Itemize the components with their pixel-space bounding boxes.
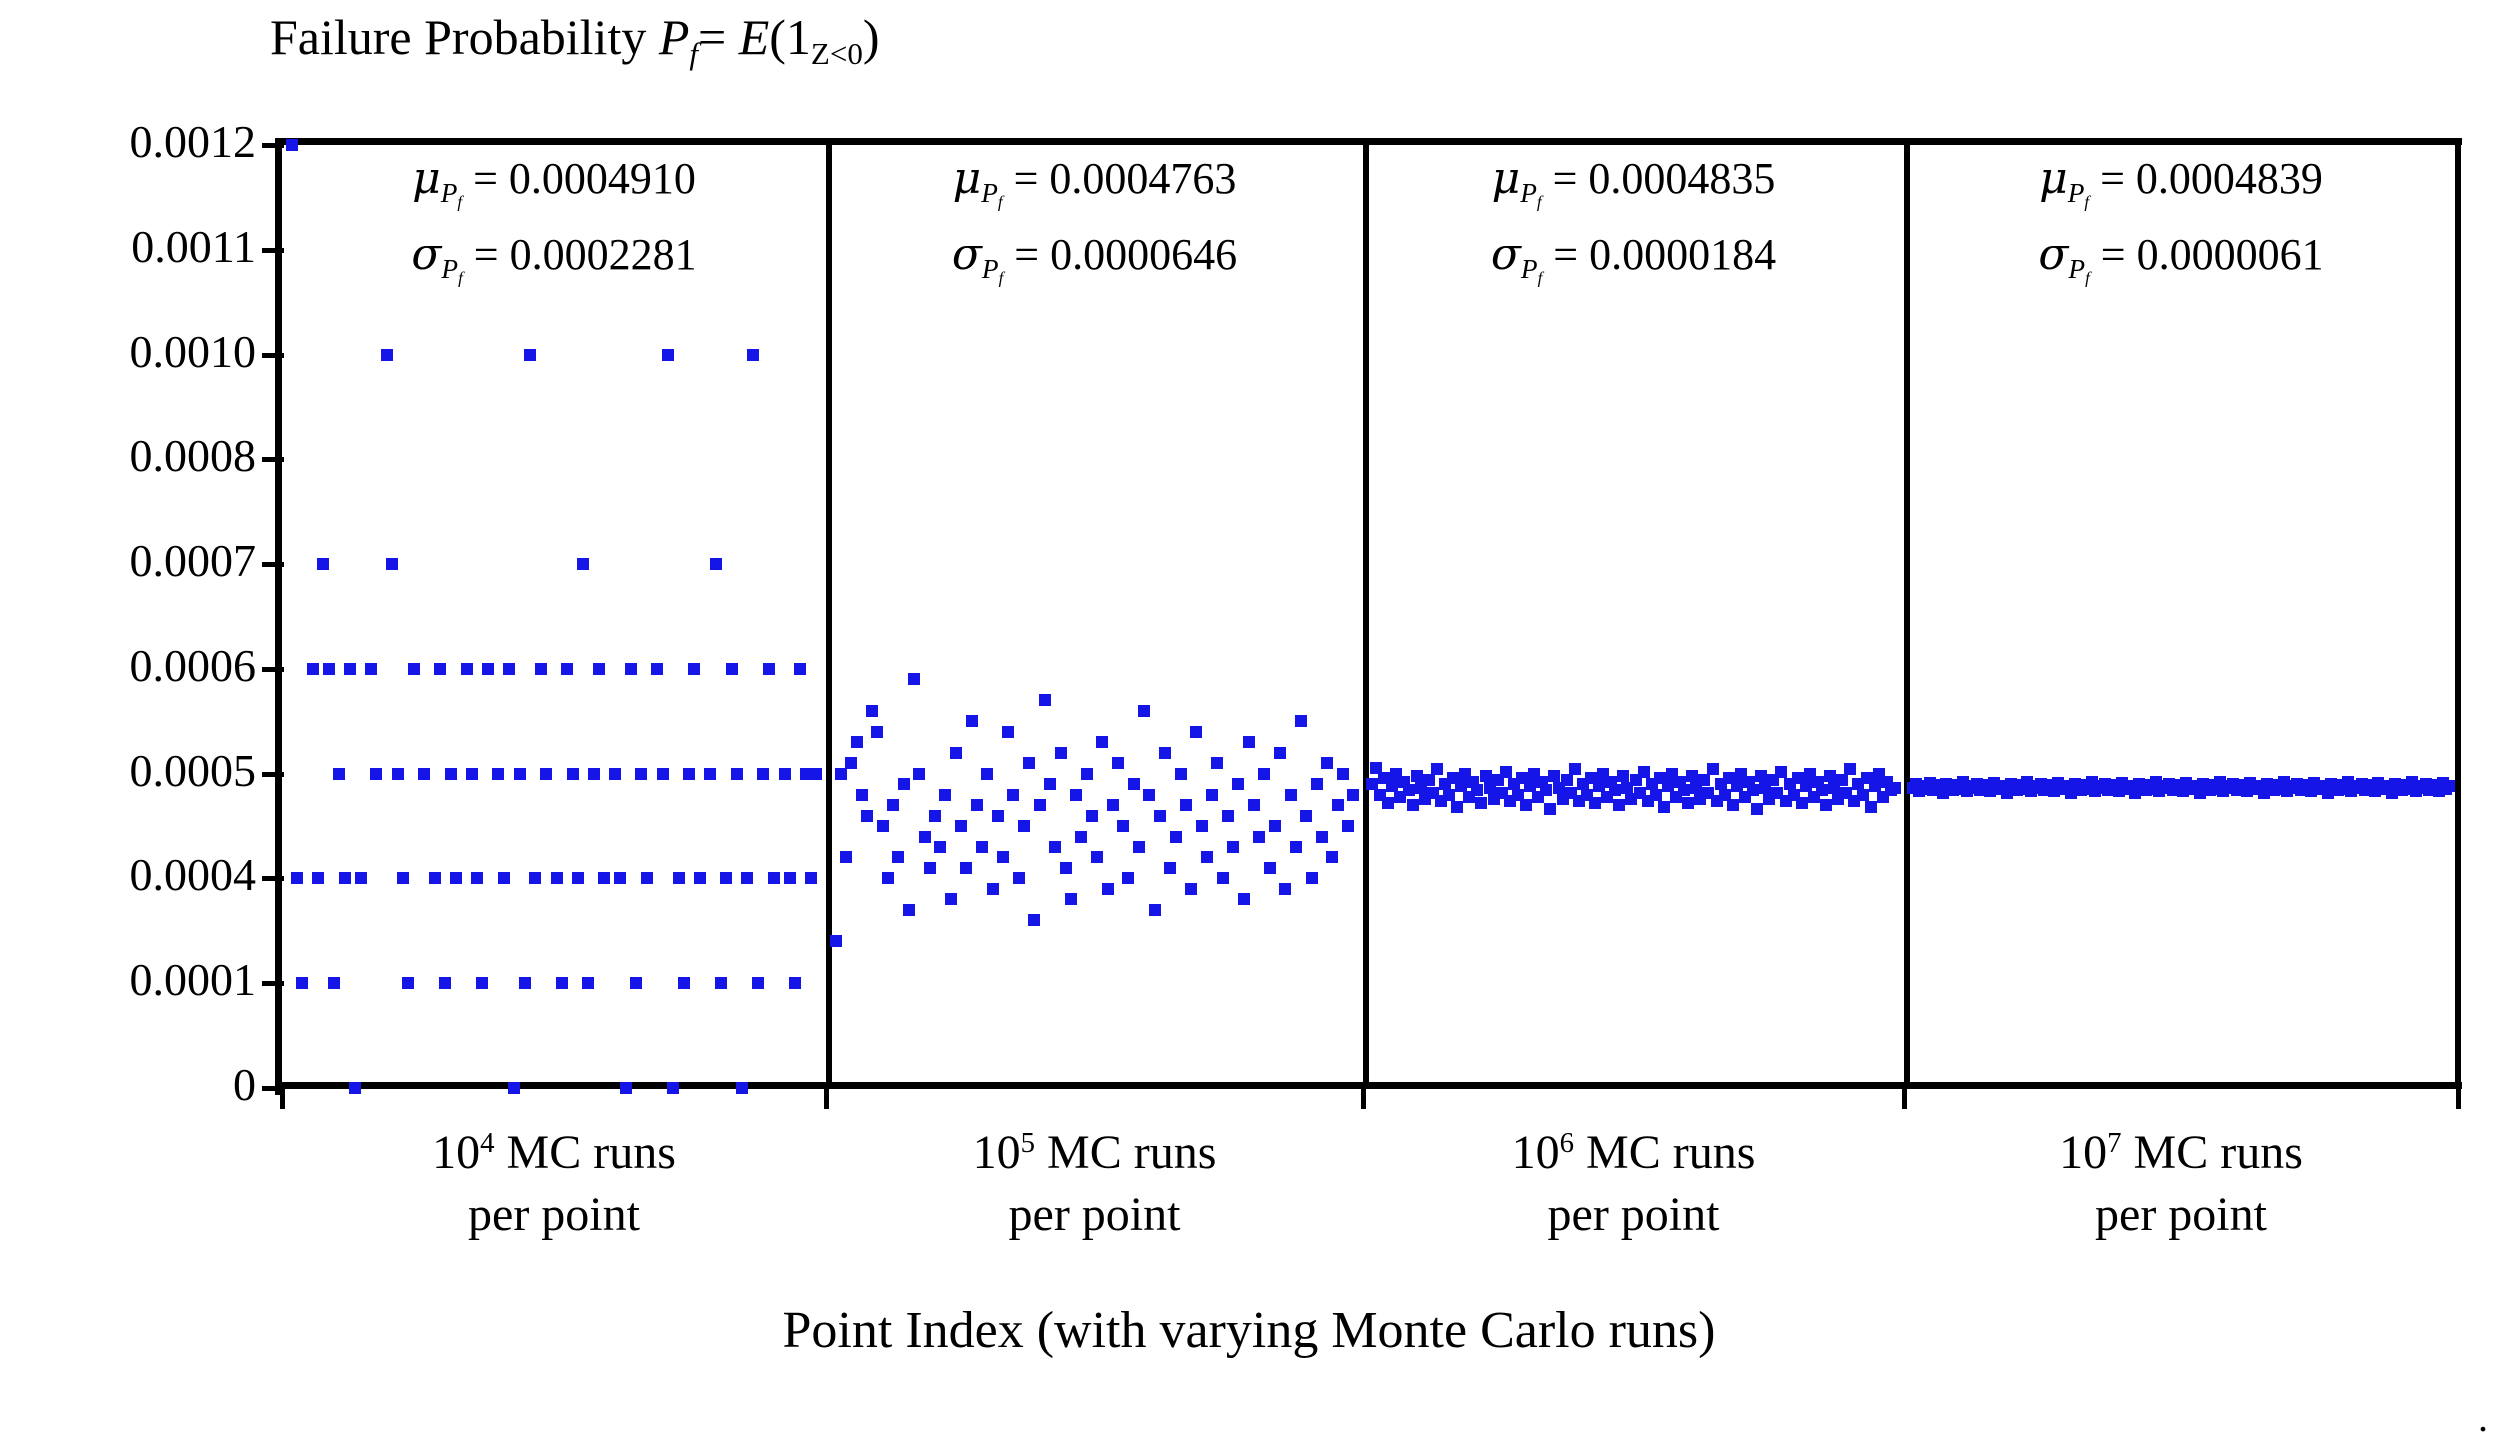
data-point: [779, 768, 791, 780]
data-point: [1227, 841, 1239, 853]
chart-title-close: ): [863, 9, 880, 65]
data-point: [1889, 782, 1901, 794]
data-point: [609, 768, 621, 780]
data-point: [1112, 757, 1124, 769]
y-tick-mark: [262, 562, 284, 567]
runs-base: 10: [2059, 1126, 2107, 1179]
data-point: [1431, 763, 1443, 775]
data-point: [683, 768, 695, 780]
data-point: [1707, 763, 1719, 775]
data-point: [1018, 820, 1030, 832]
chart-title-prefix: Failure Probability: [270, 9, 659, 65]
panel-x-label-1: 104 MC runsper point: [274, 1112, 834, 1246]
data-point: [1013, 872, 1025, 884]
y-tick-label: 0: [233, 1062, 256, 1108]
data-point: [370, 768, 382, 780]
data-point: [328, 977, 340, 989]
y-tick-label: 0.0005: [130, 748, 257, 794]
data-point: [1865, 801, 1877, 813]
x-tick-mark: [1361, 1089, 1366, 1109]
data-point: [519, 977, 531, 989]
data-point: [1170, 831, 1182, 843]
data-point: [503, 663, 515, 675]
data-point: [845, 757, 857, 769]
data-point: [598, 872, 610, 884]
x-tick-mark: [280, 1089, 285, 1109]
y-tick-label: 0.0004: [130, 852, 257, 898]
data-point: [1055, 747, 1067, 759]
data-point: [333, 768, 345, 780]
panel-x-label-3: 106 MC runsper point: [1354, 1112, 1914, 1246]
data-point: [1300, 810, 1312, 822]
data-point: [1034, 799, 1046, 811]
data-point: [950, 747, 962, 759]
data-point: [1238, 893, 1250, 905]
data-point: [1451, 801, 1463, 813]
data-point: [312, 872, 324, 884]
data-point: [1217, 872, 1229, 884]
data-point: [694, 872, 706, 884]
data-point: [757, 768, 769, 780]
data-point: [1844, 763, 1856, 775]
data-point: [641, 872, 653, 884]
data-point: [1164, 862, 1176, 874]
data-point: [1154, 810, 1166, 822]
data-point: [1002, 726, 1014, 738]
data-point: [1775, 766, 1787, 778]
data-point: [784, 872, 796, 884]
data-point: [291, 872, 303, 884]
y-tick-label: 0.0011: [131, 224, 256, 270]
data-point: [625, 663, 637, 675]
data-point: [397, 872, 409, 884]
data-point: [919, 831, 931, 843]
data-point: [945, 893, 957, 905]
data-point: [381, 349, 393, 361]
data-point: [386, 558, 398, 570]
data-point: [662, 349, 674, 361]
data-point: [1081, 768, 1093, 780]
data-point: [1274, 747, 1286, 759]
chart-title-expectation: E: [739, 9, 770, 65]
data-point: [1824, 770, 1836, 782]
data-point: [439, 977, 451, 989]
y-tick-mark: [262, 772, 284, 777]
data-point: [1658, 801, 1670, 813]
data-point: [1086, 810, 1098, 822]
y-tick-label: 0.0006: [130, 643, 257, 689]
data-point: [981, 768, 993, 780]
data-point: [1096, 736, 1108, 748]
data-point: [1617, 770, 1629, 782]
data-point: [939, 789, 951, 801]
data-point: [1836, 774, 1848, 786]
data-point: [1332, 799, 1344, 811]
data-point: [339, 872, 351, 884]
data-point: [1007, 789, 1019, 801]
data-point: [349, 1082, 361, 1094]
data-point: [1686, 770, 1698, 782]
data-point: [1190, 726, 1202, 738]
data-point: [286, 139, 298, 151]
data-point: [635, 768, 647, 780]
y-tick-mark: [262, 457, 284, 462]
data-point: [908, 673, 920, 685]
panel-x-label-2: 105 MC runsper point: [815, 1112, 1375, 1246]
data-point: [392, 768, 404, 780]
data-point: [1107, 799, 1119, 811]
data-point: [1755, 770, 1767, 782]
y-tick-label: 0.0001: [130, 957, 257, 1003]
data-point: [1128, 778, 1140, 790]
data-point: [471, 872, 483, 884]
data-point: [1337, 768, 1349, 780]
y-tick-mark: [262, 248, 284, 253]
data-point: [667, 1082, 679, 1094]
data-point: [805, 872, 817, 884]
data-point: [461, 663, 473, 675]
data-point: [365, 663, 377, 675]
data-point: [1049, 841, 1061, 853]
data-point: [1411, 770, 1423, 782]
data-point: [877, 820, 889, 832]
chart-canvas: Failure Probability Pf= E(1Z<0) 0.00120.…: [0, 0, 2498, 1441]
x-tick-mark: [1902, 1089, 1907, 1109]
runs-text: MC runs: [2122, 1126, 2303, 1179]
data-point: [540, 768, 552, 780]
y-tick-label: 0.0007: [130, 538, 257, 584]
data-point: [1682, 797, 1694, 809]
y-tick-label: 0.0010: [130, 329, 257, 375]
data-point: [747, 349, 759, 361]
data-point: [556, 977, 568, 989]
x-axis-title: Point Index (with varying Monte Carlo ru…: [0, 1300, 2498, 1362]
data-point: [482, 663, 494, 675]
data-point: [1816, 784, 1828, 796]
runs-base: 10: [432, 1126, 480, 1179]
y-tick-mark: [262, 667, 284, 672]
data-point: [1638, 766, 1650, 778]
data-point: [561, 663, 573, 675]
runs-text: MC runs: [1035, 1126, 1216, 1179]
chart-title-symbol-sub: f: [689, 36, 698, 71]
data-point: [1650, 789, 1662, 801]
data-point: [763, 663, 775, 675]
data-point: [678, 977, 690, 989]
data-point: [572, 872, 584, 884]
data-point: [1306, 872, 1318, 884]
data-point: [1475, 797, 1487, 809]
data-point: [434, 663, 446, 675]
runs-exponent: 6: [1560, 1127, 1574, 1159]
data-point: [445, 768, 457, 780]
data-point: [1206, 789, 1218, 801]
y-tick-label: 0.0012: [130, 119, 257, 165]
y-tick-mark: [262, 143, 284, 148]
data-point: [898, 778, 910, 790]
data-point: [1222, 810, 1234, 822]
y-tick-label: 0.0008: [130, 433, 257, 479]
data-point: [866, 705, 878, 717]
data-point: [810, 768, 822, 780]
data-point: [934, 841, 946, 853]
data-point: [408, 663, 420, 675]
runs-base: 10: [1512, 1126, 1560, 1179]
data-point: [861, 810, 873, 822]
data-point: [1149, 904, 1161, 916]
data-point: [1039, 694, 1051, 706]
data-point: [2443, 780, 2455, 792]
data-point: [768, 872, 780, 884]
data-point: [498, 872, 510, 884]
data-point: [960, 862, 972, 874]
data-point: [588, 768, 600, 780]
runs-text-line2: per point: [1901, 1184, 2461, 1246]
data-point: [903, 904, 915, 916]
data-point: [1820, 799, 1832, 811]
data-point: [307, 663, 319, 675]
data-point: [418, 768, 430, 780]
data-point: [1311, 778, 1323, 790]
data-point: [1443, 789, 1455, 801]
scatter-points-layer: [282, 145, 2462, 1088]
data-point: [1589, 797, 1601, 809]
data-point: [1290, 841, 1302, 853]
data-point: [476, 977, 488, 989]
data-point: [704, 768, 716, 780]
data-point: [630, 977, 642, 989]
data-point: [535, 663, 547, 675]
data-point: [1540, 784, 1552, 796]
data-point: [1279, 883, 1291, 895]
data-point: [1243, 736, 1255, 748]
data-point: [1102, 883, 1114, 895]
runs-text-line2: per point: [1354, 1184, 1914, 1246]
data-point: [892, 851, 904, 863]
data-point: [514, 768, 526, 780]
data-point: [835, 768, 847, 780]
data-point: [929, 810, 941, 822]
data-point: [1609, 784, 1621, 796]
trailing-period: .: [2478, 1398, 2488, 1438]
data-point: [1569, 763, 1581, 775]
data-point: [402, 977, 414, 989]
data-point: [830, 935, 842, 947]
runs-exponent: 7: [2107, 1127, 2121, 1159]
plot-frame-top: [275, 138, 2462, 145]
runs-exponent: 4: [480, 1127, 494, 1159]
data-point: [1342, 820, 1354, 832]
data-point: [1175, 768, 1187, 780]
data-point: [882, 872, 894, 884]
data-point: [657, 768, 669, 780]
data-point: [987, 883, 999, 895]
data-point: [1091, 851, 1103, 863]
data-point: [1180, 799, 1192, 811]
data-point: [794, 663, 806, 675]
data-point: [1023, 757, 1035, 769]
data-point: [577, 558, 589, 570]
runs-text: MC runs: [495, 1126, 676, 1179]
data-point: [551, 872, 563, 884]
data-point: [620, 1082, 632, 1094]
runs-exponent: 5: [1021, 1127, 1035, 1159]
data-point: [1285, 789, 1297, 801]
data-point: [1065, 893, 1077, 905]
data-point: [1028, 914, 1040, 926]
data-point: [1326, 851, 1338, 863]
data-point: [1500, 766, 1512, 778]
data-point: [1382, 797, 1394, 809]
data-point: [355, 872, 367, 884]
data-point: [296, 977, 308, 989]
data-point: [976, 841, 988, 853]
data-point: [1698, 774, 1710, 786]
y-tick-mark: [262, 981, 284, 986]
data-point: [1321, 757, 1333, 769]
data-point: [741, 872, 753, 884]
data-point: [1678, 784, 1690, 796]
data-point: [1143, 789, 1155, 801]
data-point: [593, 663, 605, 675]
data-point: [1751, 803, 1763, 815]
data-point: [1211, 757, 1223, 769]
chart-title-symbol: P: [659, 9, 690, 65]
data-point: [955, 820, 967, 832]
data-point: [710, 558, 722, 570]
data-point: [688, 663, 700, 675]
data-point: [651, 663, 663, 675]
data-point: [1070, 789, 1082, 801]
data-point: [992, 810, 1004, 822]
data-point: [997, 851, 1009, 863]
chart-title-open: (1: [769, 9, 811, 65]
data-point: [1044, 778, 1056, 790]
data-point: [529, 872, 541, 884]
data-point: [429, 872, 441, 884]
data-point: [1264, 862, 1276, 874]
x-tick-mark: [824, 1089, 829, 1109]
data-point: [508, 1082, 520, 1094]
y-tick-mark: [262, 876, 284, 881]
runs-base: 10: [973, 1126, 1021, 1179]
data-point: [871, 726, 883, 738]
data-point: [1347, 789, 1359, 801]
data-point: [1159, 747, 1171, 759]
data-point: [1258, 768, 1270, 780]
data-point: [1117, 820, 1129, 832]
data-point: [1232, 778, 1244, 790]
data-point: [1403, 784, 1415, 796]
data-point: [1561, 774, 1573, 786]
data-point: [1316, 831, 1328, 843]
data-point: [344, 663, 356, 675]
y-tick-mark: [262, 353, 284, 358]
data-point: [524, 349, 536, 361]
data-point: [1613, 799, 1625, 811]
data-point: [1075, 831, 1087, 843]
data-point: [1133, 841, 1145, 853]
data-point: [450, 872, 462, 884]
data-point: [317, 558, 329, 570]
chart-title-equals: =: [698, 9, 739, 65]
data-point: [1520, 799, 1532, 811]
data-point: [1544, 803, 1556, 815]
data-point: [1857, 789, 1869, 801]
data-point: [1295, 715, 1307, 727]
data-point: [856, 789, 868, 801]
runs-text-line2: per point: [815, 1184, 1375, 1246]
data-point: [466, 768, 478, 780]
data-point: [1747, 784, 1759, 796]
data-point: [887, 799, 899, 811]
data-point: [720, 872, 732, 884]
data-point: [1727, 799, 1739, 811]
data-point: [1201, 851, 1213, 863]
data-point: [614, 872, 626, 884]
data-point: [966, 715, 978, 727]
data-point: [913, 768, 925, 780]
data-point: [731, 768, 743, 780]
data-point: [752, 977, 764, 989]
panel-x-label-4: 107 MC runsper point: [1901, 1112, 2461, 1246]
data-point: [1248, 799, 1260, 811]
data-point: [789, 977, 801, 989]
data-point: [851, 736, 863, 748]
data-point: [492, 768, 504, 780]
data-point: [840, 851, 852, 863]
data-point: [1122, 872, 1134, 884]
data-point: [1796, 797, 1808, 809]
data-point: [1185, 883, 1197, 895]
x-tick-mark: [2456, 1089, 2461, 1109]
data-point: [1423, 774, 1435, 786]
data-point: [1253, 831, 1265, 843]
data-point: [567, 768, 579, 780]
chart-title-condition: Z<0: [811, 36, 863, 71]
chart-title: Failure Probability Pf= E(1Z<0): [270, 8, 1470, 68]
data-point: [1407, 799, 1419, 811]
data-point: [1060, 862, 1072, 874]
data-point: [1269, 820, 1281, 832]
runs-text-line2: per point: [274, 1184, 834, 1246]
data-point: [736, 1082, 748, 1094]
data-point: [1138, 705, 1150, 717]
data-point: [1548, 770, 1560, 782]
data-point: [582, 977, 594, 989]
data-point: [971, 799, 983, 811]
data-point: [673, 872, 685, 884]
y-axis-line: [275, 138, 282, 1095]
data-point: [1480, 770, 1492, 782]
data-point: [726, 663, 738, 675]
data-point: [1471, 784, 1483, 796]
data-point: [1196, 820, 1208, 832]
data-point: [924, 862, 936, 874]
data-point: [323, 663, 335, 675]
runs-text: MC runs: [1574, 1126, 1755, 1179]
data-point: [715, 977, 727, 989]
